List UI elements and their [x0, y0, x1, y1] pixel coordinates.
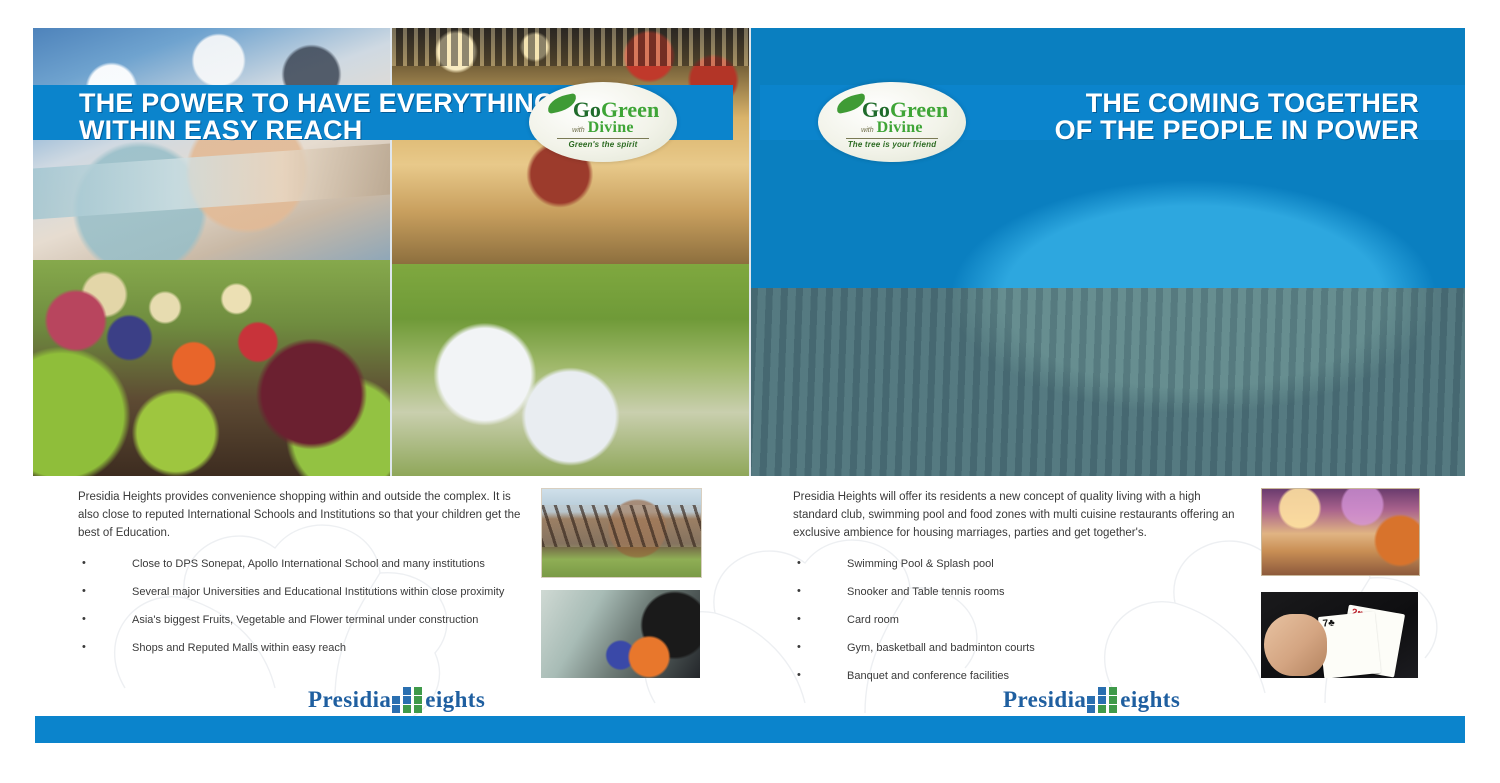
go-green-with-right: with: [861, 127, 873, 134]
go-green-divine-left: Divine: [588, 119, 634, 137]
right-bullet-list: Swimming Pool & Splash pool Snooker and …: [793, 556, 1248, 685]
right-text-column: Presidia Heights will offer its resident…: [793, 488, 1248, 696]
list-item: Close to DPS Sonepat, Apollo Internation…: [78, 556, 533, 573]
go-green-logo-left: Go Green with Divine Green's the spirit: [529, 82, 677, 162]
go-green-wordmark-left: Go Green: [547, 96, 659, 121]
footer-bar: [35, 716, 1465, 743]
go-green-green-left: Green: [601, 99, 659, 121]
go-green-go-left: Go: [573, 99, 601, 121]
go-green-green-right: Green: [890, 99, 948, 121]
divider: [557, 138, 649, 139]
presidia-h-mark-icon: [392, 685, 424, 715]
go-green-tagline-right: The tree is your friend: [848, 140, 937, 149]
logo-word-heights: eights: [425, 687, 485, 713]
go-green-divine-row-left: with Divine: [572, 119, 634, 137]
left-paragraph: Presidia Heights provides convenience sh…: [78, 488, 533, 542]
list-item: Shops and Reputed Malls within easy reac…: [78, 640, 533, 657]
logo-word-heights: eights: [1120, 687, 1180, 713]
presidia-heights-logo-left: Presidia eights: [308, 683, 485, 717]
go-green-divine-row-right: with Divine: [861, 119, 923, 137]
left-text-column: Presidia Heights provides convenience sh…: [78, 488, 533, 668]
playing-card-club: 7♣: [1318, 612, 1381, 678]
shopping-bags-thumbnail: [541, 590, 700, 678]
banquet-hall-thumbnail: [1261, 488, 1420, 576]
brochure-page: THE POWER TO HAVE EVERYTHING WITHIN EASY…: [0, 0, 1500, 783]
right-paragraph: Presidia Heights will offer its resident…: [793, 488, 1248, 542]
logo-word-presidia: Presidia: [1003, 687, 1086, 713]
floating-market-photo: [33, 260, 390, 476]
go-green-logo-right: Go Green with Divine The tree is your fr…: [818, 82, 966, 162]
left-bullet-list: Close to DPS Sonepat, Apollo Internation…: [78, 556, 533, 657]
presidia-h-mark-icon: [1087, 685, 1119, 715]
go-green-tagline-left: Green's the spirit: [568, 140, 637, 149]
list-item: Gym, basketball and badminton courts: [793, 640, 1248, 657]
list-item: Swimming Pool & Splash pool: [793, 556, 1248, 573]
list-item: Snooker and Table tennis rooms: [793, 584, 1248, 601]
list-item: Asia's biggest Fruits, Vegetable and Flo…: [78, 612, 533, 629]
playing-cards-thumbnail: 2♥ 7♣: [1261, 592, 1418, 678]
shopping-mall-building-thumbnail: [541, 488, 702, 578]
go-green-go-right: Go: [862, 99, 890, 121]
modern-school-building-photo: [392, 264, 749, 476]
presidia-heights-logo-right: Presidia eights: [1003, 683, 1180, 717]
go-green-wordmark-right: Go Green: [836, 96, 948, 121]
go-green-with-left: with: [572, 127, 584, 134]
list-item: Card room: [793, 612, 1248, 629]
hand-holding-cards: [1264, 614, 1327, 676]
list-item: Several major Universities and Education…: [78, 584, 533, 601]
go-green-divine-right: Divine: [877, 119, 923, 137]
logo-word-presidia: Presidia: [308, 687, 391, 713]
divider: [846, 138, 938, 139]
